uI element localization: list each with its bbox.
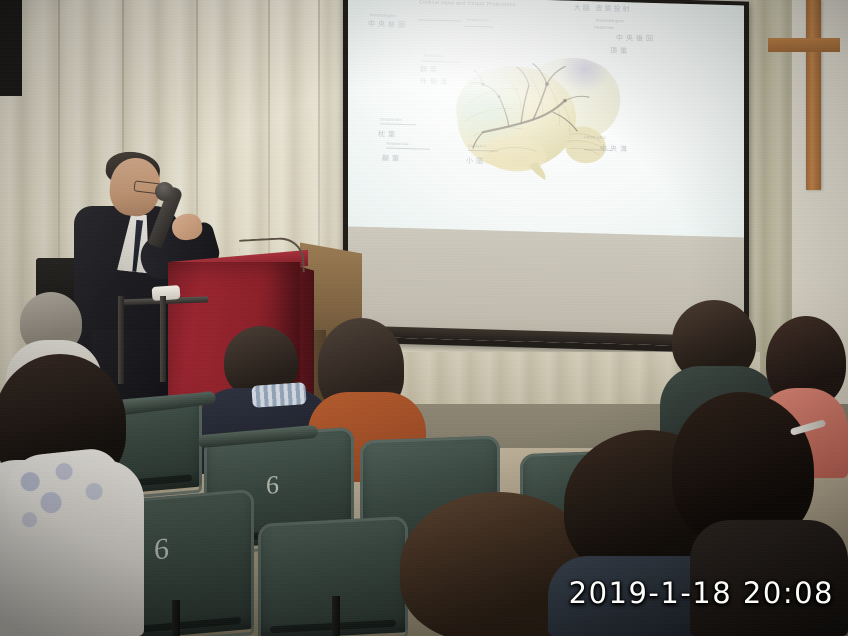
wall-cross-arm-icon xyxy=(768,38,840,52)
projector-glow xyxy=(348,0,744,238)
mic-stand-left xyxy=(118,296,124,384)
seat-leg-2 xyxy=(332,596,340,636)
seat-number-label: 6 xyxy=(266,470,279,501)
wall-cross-icon xyxy=(806,0,821,190)
projection-screen: Cortical Input and Output Projections 大腦… xyxy=(343,0,749,354)
camera-timestamp: 2019-1-18 20:08 xyxy=(569,576,834,610)
screen-surface: Cortical Input and Output Projections 大腦… xyxy=(348,0,744,348)
mic-stand-white-clip xyxy=(152,285,181,301)
mic-stand-right xyxy=(160,296,166,382)
seat-leg-1 xyxy=(172,600,180,636)
photograph: Cortical Input and Output Projections 大腦… xyxy=(0,0,848,636)
seat-number-label-front: 6 xyxy=(154,532,169,567)
audience-plaid-collar xyxy=(251,382,306,408)
gooseneck-microphone xyxy=(239,236,305,275)
dark-corner-object xyxy=(0,0,22,96)
